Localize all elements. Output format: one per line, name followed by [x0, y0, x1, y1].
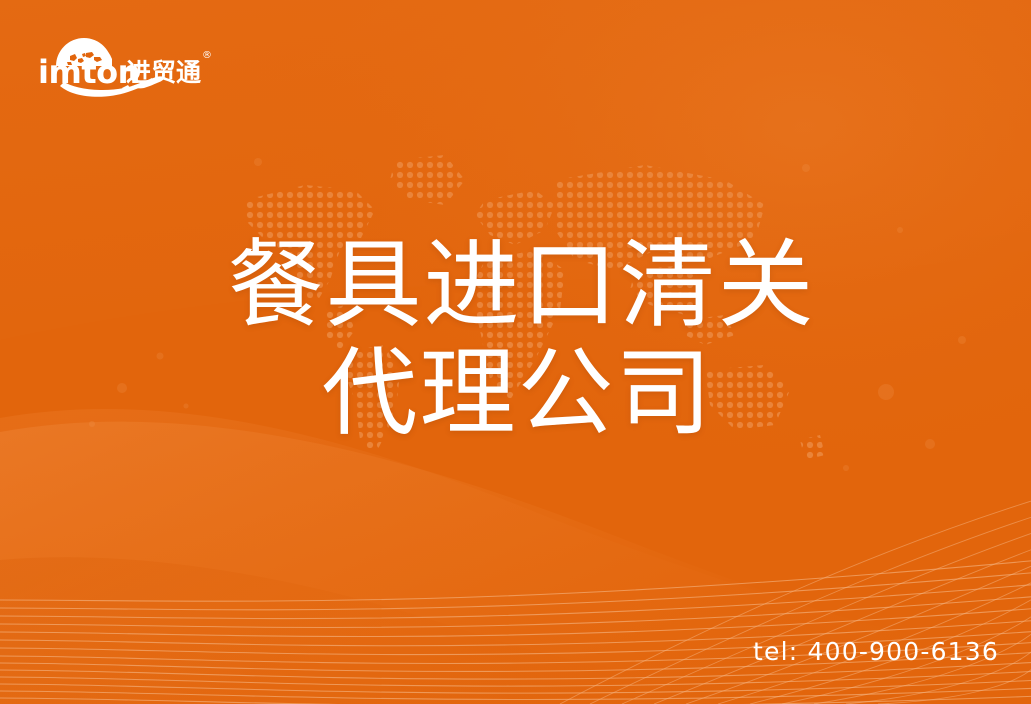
registered-trademark-icon: ® — [202, 50, 212, 61]
company-logo[interactable]: imton 进贸通 ® — [36, 28, 214, 100]
logo-mark: imton 进贸通 ® — [36, 28, 214, 100]
logo-chinese-text: 进贸通 — [126, 58, 201, 87]
promo-banner: imton 进贸通 ® 餐具进口清关 代理公司 tel: 400-900-613… — [0, 0, 1031, 704]
headline-line-1: 餐具进口清关 — [0, 232, 1031, 340]
logo-latin-text: imton — [38, 53, 140, 91]
headline-line-2: 代理公司 — [0, 340, 1031, 448]
contact-phone[interactable]: tel: 400-900-6136 — [753, 637, 999, 666]
headline: 餐具进口清关 代理公司 — [0, 232, 1031, 447]
